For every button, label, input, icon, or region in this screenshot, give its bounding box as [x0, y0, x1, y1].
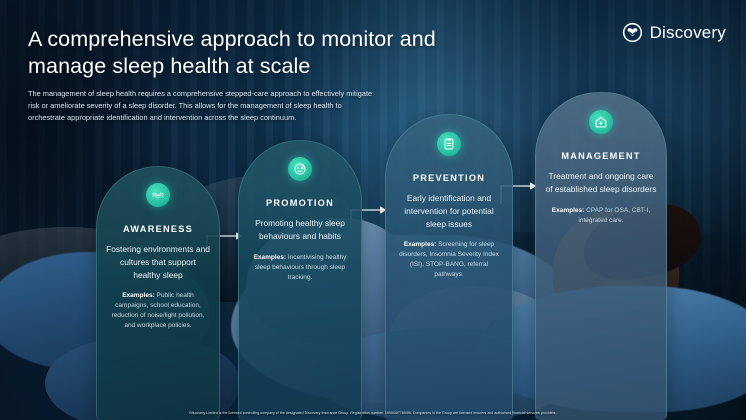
- stage-description: Early identification and intervention fo…: [395, 192, 503, 230]
- stage-examples: Examples: Screening for sleep disorders,…: [395, 240, 503, 280]
- home-care-icon: [589, 110, 613, 134]
- stage-title: MANAGEMENT: [545, 151, 657, 161]
- stage-card-promotion[interactable]: PROMOTION Promoting healthy sleep behavi…: [238, 140, 362, 420]
- page-subtitle: The management of sleep health requires …: [28, 88, 378, 125]
- stage-title: AWARENESS: [106, 224, 210, 234]
- brand-name: Discovery: [650, 23, 726, 43]
- sleeping-face-icon: [288, 157, 312, 181]
- stage-examples: Examples: CPAP for OSA, CBT-I, integrate…: [545, 206, 657, 226]
- clipboard-document-icon: [437, 132, 461, 156]
- stage-examples: Examples: Public health campaigns, schoo…: [106, 291, 210, 331]
- stage-card-awareness[interactable]: AWARENESS Fostering environments and cul…: [96, 166, 220, 420]
- stage-description: Fostering environments and cultures that…: [106, 243, 210, 281]
- stage-title: PREVENTION: [395, 173, 503, 183]
- stage-card-management[interactable]: MANAGEMENT Treatment and ongoing care of…: [535, 92, 667, 420]
- stage-examples-label: Examples:: [552, 207, 585, 214]
- stage-examples-text: CPAP for OSA, CBT-I, integrated care.: [578, 207, 650, 224]
- stage-description: Treatment and ongoing care of establishe…: [545, 170, 657, 196]
- stage-title: PROMOTION: [248, 198, 352, 208]
- footer-disclaimer: Discovery Limited is the licensed contro…: [0, 411, 746, 415]
- stage-card-prevention[interactable]: PREVENTION Early identification and inte…: [385, 114, 513, 420]
- stage-description: Promoting healthy sleep behaviours and h…: [248, 217, 352, 243]
- stage-examples-label: Examples:: [404, 241, 437, 248]
- stage-examples-label: Examples:: [122, 292, 155, 299]
- sleep-mask-icon: [146, 183, 170, 207]
- discovery-chevron-badge-icon: [622, 22, 643, 43]
- discovery-logo[interactable]: Discovery: [622, 22, 726, 43]
- stage-examples-label: Examples:: [254, 254, 287, 261]
- stage-examples: Examples: Incentivising healthy sleep be…: [248, 253, 352, 283]
- page-headline: A comprehensive approach to monitor and …: [28, 26, 448, 80]
